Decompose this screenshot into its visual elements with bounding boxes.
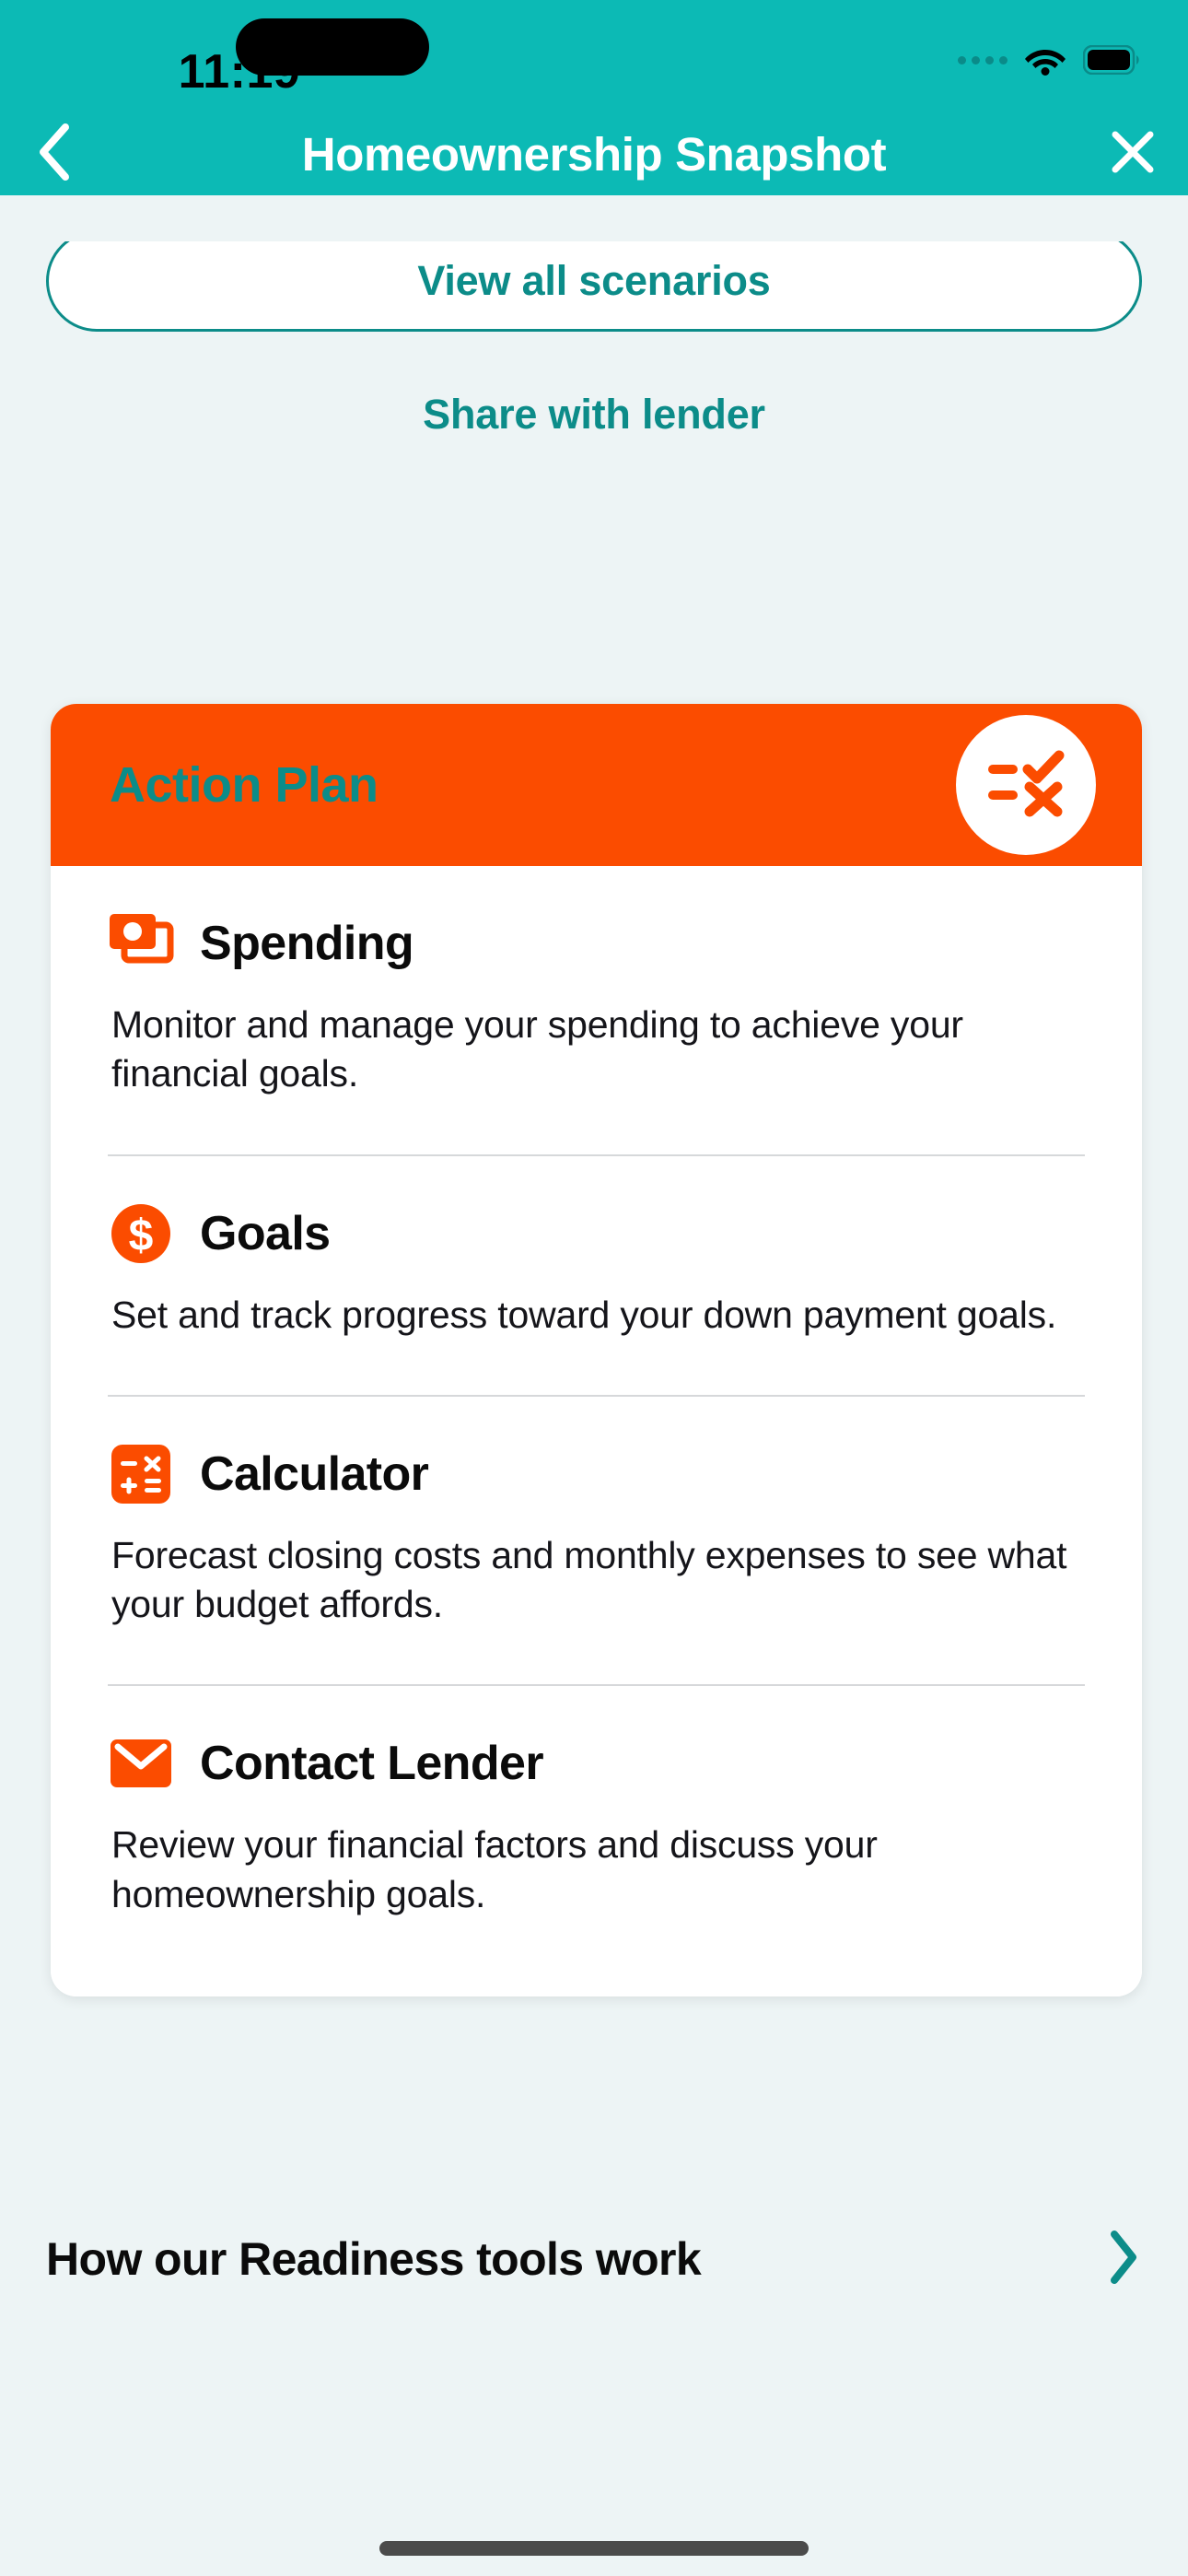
action-plan-item-name: Spending	[200, 916, 413, 971]
action-plan-item-description: Forecast closing costs and monthly expen…	[111, 1531, 1085, 1630]
checklist-check-x-icon	[986, 749, 1066, 822]
dynamic-island	[236, 18, 429, 76]
action-plan-item-description: Monitor and manage your spending to achi…	[111, 1001, 1085, 1099]
share-with-lender-label: Share with lender	[423, 391, 765, 438]
close-x-icon	[1107, 126, 1159, 182]
action-plan-badge-button[interactable]	[956, 715, 1096, 855]
navigation-header: Homeownership Snapshot	[0, 103, 1188, 205]
action-plan-header: Action Plan	[51, 704, 1142, 866]
back-button[interactable]	[0, 103, 111, 205]
battery-icon	[1083, 45, 1140, 75]
action-plan-item-name: Goals	[200, 1206, 331, 1261]
status-bar-indicators	[958, 44, 1140, 76]
view-all-scenarios-button[interactable]: View all scenarios	[46, 230, 1142, 332]
share-with-lender-link[interactable]: Share with lender	[0, 391, 1188, 439]
page-title: Homeownership Snapshot	[111, 127, 1077, 181]
wifi-icon	[1024, 44, 1066, 76]
action-plan-item-name: Contact Lender	[200, 1736, 543, 1791]
action-plan-item-head: Contact Lender	[108, 1730, 1085, 1797]
action-plan-card: Action Plan	[51, 704, 1142, 1996]
readiness-tools-row[interactable]: How our Readiness tools work	[0, 2204, 1188, 2314]
app-screen: 11:19	[0, 0, 1188, 2576]
chevron-right-icon	[1107, 2229, 1140, 2290]
action-plan-item-name: Calculator	[200, 1446, 428, 1502]
close-button[interactable]	[1077, 103, 1188, 205]
svg-text:$: $	[129, 1212, 154, 1260]
action-plan-item-description: Set and track progress toward your down …	[111, 1291, 1085, 1340]
action-plan-item-goals[interactable]: $ Goals Set and track progress toward yo…	[51, 1156, 1142, 1349]
action-plan-item-spending[interactable]: Spending Monitor and manage your spendin…	[51, 866, 1142, 1108]
dollar-circle-icon: $	[108, 1200, 174, 1267]
action-plan-item-head: Calculator	[108, 1441, 1085, 1507]
content-sheet: View all scenarios Share with lender Act…	[0, 195, 1188, 2576]
envelope-icon	[108, 1730, 174, 1797]
action-plan-item-head: $ Goals	[108, 1200, 1085, 1267]
view-all-scenarios-label: View all scenarios	[417, 257, 770, 305]
readiness-tools-label: How our Readiness tools work	[46, 2232, 701, 2286]
money-bills-icon	[108, 910, 174, 977]
action-plan-item-description: Review your financial factors and discus…	[111, 1821, 1085, 1919]
action-plan-title: Action Plan	[110, 756, 379, 814]
action-plan-item-head: Spending	[108, 910, 1085, 977]
chevron-left-icon	[34, 122, 76, 187]
action-plan-list: Spending Monitor and manage your spendin…	[51, 866, 1142, 1996]
action-plan-item-calculator[interactable]: Calculator Forecast closing costs and mo…	[51, 1397, 1142, 1639]
calculator-icon	[108, 1441, 174, 1507]
action-plan-item-contact-lender[interactable]: Contact Lender Review your financial fac…	[51, 1686, 1142, 1960]
signal-dots-icon	[958, 56, 1007, 64]
home-indicator	[379, 2541, 809, 2556]
